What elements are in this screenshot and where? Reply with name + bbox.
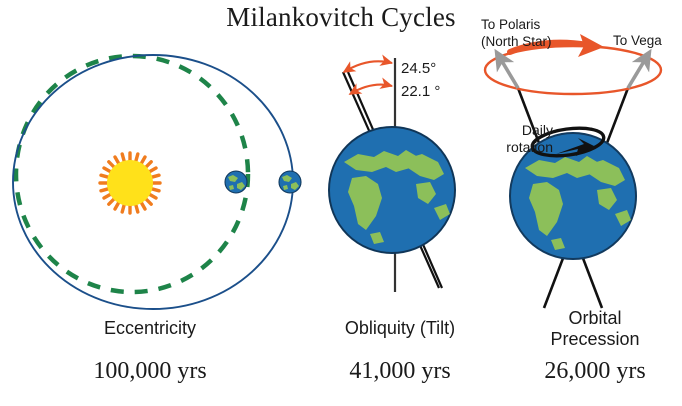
daily-rotation-label: Daily rotation — [489, 122, 553, 156]
caption-obliquity-period: 41,000 yrs — [325, 358, 475, 385]
angle-arrow-max — [344, 61, 392, 72]
caption-obliquity-name: Obliquity (Tilt) — [325, 318, 475, 339]
polaris-label: To Polaris (North Star) — [481, 17, 552, 51]
eccentricity-diagram — [0, 38, 320, 310]
caption-eccentricity-name: Eccentricity — [20, 318, 280, 339]
angle-arrow-min — [350, 85, 392, 94]
obliquity-max-angle-label: 24.5° — [401, 60, 436, 77]
earth-icon-elliptical-orbit — [279, 171, 301, 193]
caption-precession-name: Orbital Precession — [520, 308, 670, 350]
milankovitch-cycles-figure: Milankovitch Cycles — [0, 0, 682, 406]
precession-diagram — [470, 20, 682, 310]
caption-eccentricity-period: 100,000 yrs — [20, 358, 280, 385]
earth-icon-circular-orbit — [225, 171, 247, 193]
earth-icon-obliquity — [329, 127, 455, 253]
obliquity-min-angle-label: 22.1 ° — [401, 83, 440, 100]
caption-precession-period: 26,000 yrs — [520, 358, 670, 385]
vega-label: To Vega — [613, 33, 662, 48]
sun-icon — [100, 153, 160, 213]
